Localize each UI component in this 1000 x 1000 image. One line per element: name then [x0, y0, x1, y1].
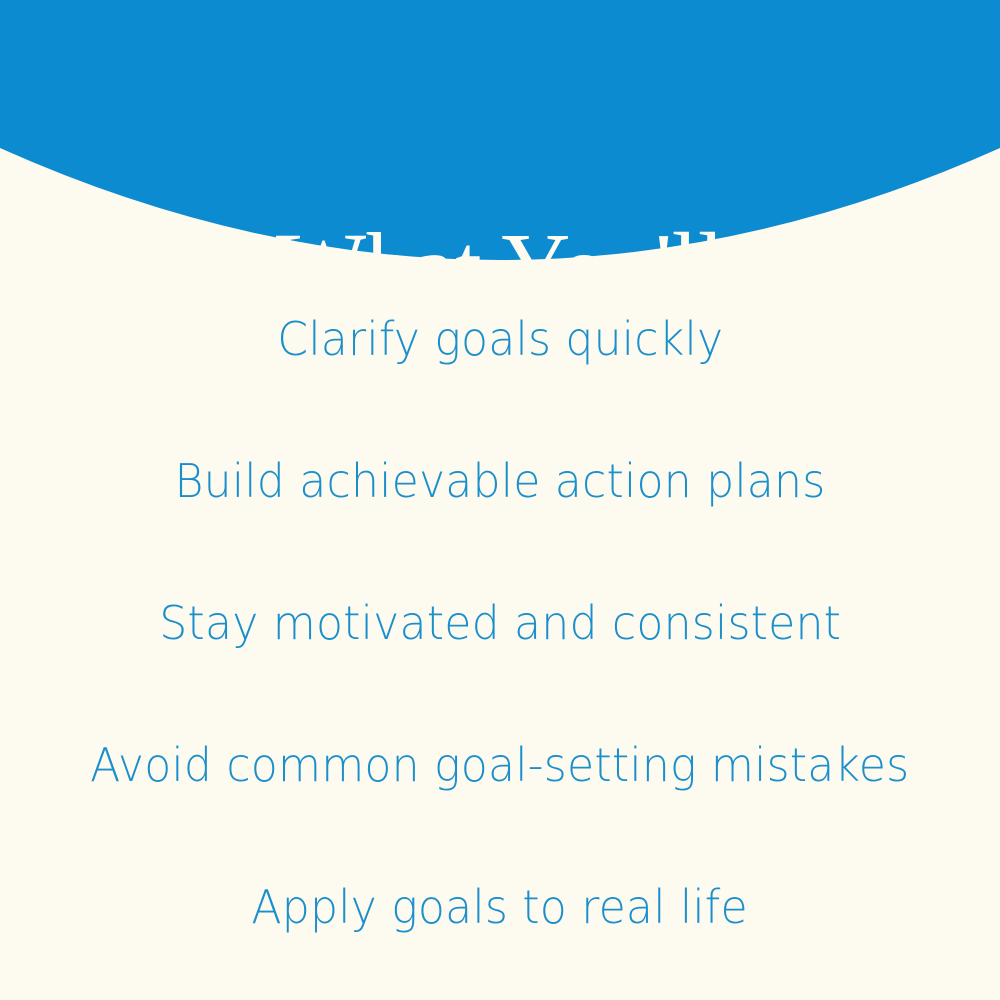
list-item: Build achievable action plans	[0, 411, 1000, 553]
list-item: Clarify goals quickly	[0, 269, 1000, 411]
learning-point-1: Clarify goals quickly	[277, 314, 723, 365]
list-item: Stay motivated and consistent	[0, 553, 1000, 695]
list-item: Apply goals to real life	[0, 837, 1000, 979]
list-item: Avoid common goal-setting mistakes	[0, 695, 1000, 837]
learning-point-3: Stay motivated and consistent	[159, 598, 841, 649]
learning-points-list: Clarify goals quickly Build achievable a…	[0, 259, 1000, 1000]
learning-point-2: Build achievable action plans	[175, 456, 826, 507]
learning-point-4: Avoid common goal-setting mistakes	[90, 740, 909, 791]
poster-canvas: What You'll Learn Inside Clarify goals q…	[0, 0, 1000, 1000]
header-banner: What You'll Learn Inside	[0, 0, 1000, 262]
learning-point-5: Apply goals to real life	[252, 882, 749, 933]
